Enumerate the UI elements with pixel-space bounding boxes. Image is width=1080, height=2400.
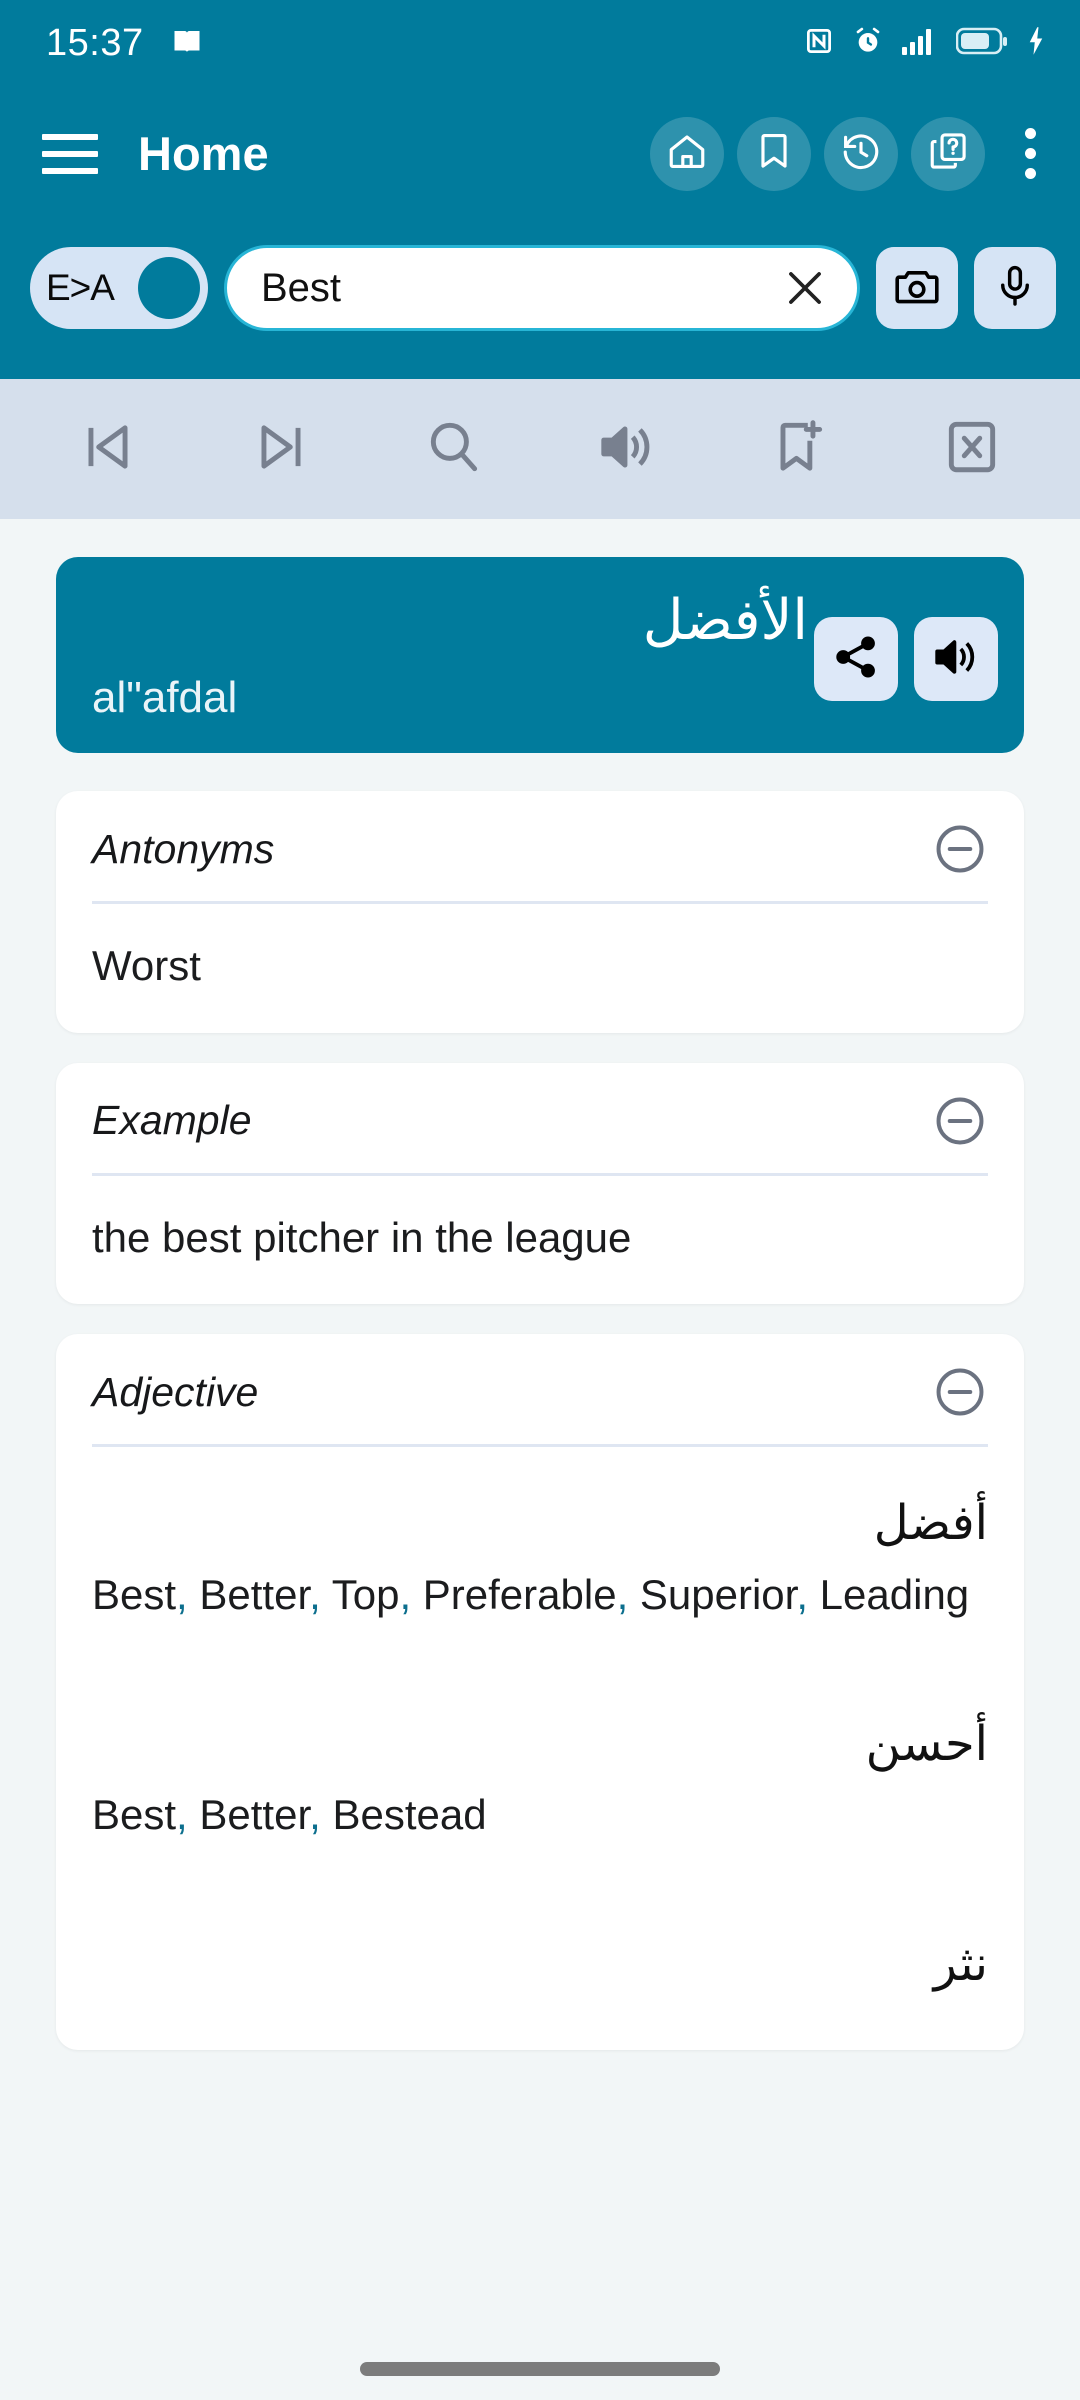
skip-previous-button[interactable] — [48, 394, 168, 504]
status-bar: 15:37 — [0, 0, 1080, 86]
camera-icon — [893, 262, 941, 315]
sense-english: Best, Better, Bestead — [92, 1786, 988, 1878]
minus-circle-icon[interactable] — [932, 1093, 988, 1149]
sense-arabic: أفضل — [92, 1447, 988, 1565]
close-box-icon — [941, 416, 1003, 483]
close-entry-button[interactable] — [912, 394, 1032, 504]
page-title: Home — [138, 126, 269, 181]
share-icon — [832, 633, 880, 686]
bookmark-button[interactable] — [737, 117, 811, 191]
alarm-icon — [852, 25, 884, 62]
speak-button[interactable] — [566, 394, 686, 504]
sense-item[interactable]: أفضل Best, Better, Top, Preferable, Supe… — [56, 1447, 1024, 1667]
card-title: Adjective — [92, 1369, 258, 1416]
speak-result-button[interactable] — [914, 617, 998, 701]
nfc-icon — [804, 26, 834, 61]
search-row: E>A — [0, 221, 1080, 379]
battery-icon — [956, 26, 1008, 61]
skip-next-icon — [250, 416, 312, 483]
sense-arabic: نثر — [92, 1888, 988, 2006]
home-button[interactable] — [650, 117, 724, 191]
minus-circle-icon[interactable] — [932, 1364, 988, 1420]
toggle-thumb — [138, 257, 200, 319]
hamburger-menu-icon[interactable] — [42, 134, 98, 174]
card-title: Antonyms — [92, 826, 274, 873]
sense-english — [92, 2006, 988, 2040]
minus-circle-icon[interactable] — [932, 821, 988, 877]
card-body: Worst — [56, 904, 1024, 1033]
example-card: Example the best pitcher in the league — [56, 1063, 1024, 1305]
home-icon — [666, 130, 708, 177]
status-bar-right — [804, 25, 1046, 62]
card-body: the best pitcher in the league — [56, 1176, 1024, 1305]
result-actions — [814, 617, 998, 701]
card-header: Adjective — [56, 1334, 1024, 1444]
microphone-icon — [992, 263, 1038, 314]
antonyms-text: Worst — [92, 938, 988, 995]
quiz-icon — [927, 130, 969, 177]
history-icon — [840, 130, 882, 177]
status-bar-clock: 15:37 — [46, 22, 144, 65]
close-icon[interactable] — [779, 262, 831, 314]
sense-english: Best, Better, Top, Preferable, Superior,… — [92, 1566, 988, 1658]
example-text: the best pitcher in the league — [92, 1210, 988, 1267]
history-button[interactable] — [824, 117, 898, 191]
card-title: Example — [92, 1097, 252, 1144]
sense-arabic: أحسن — [92, 1668, 988, 1786]
antonyms-card: Antonyms Worst — [56, 791, 1024, 1033]
quiz-button[interactable] — [911, 117, 985, 191]
language-direction-toggle[interactable]: E>A — [30, 247, 208, 329]
voice-search-button[interactable] — [974, 247, 1056, 329]
home-indicator — [360, 2362, 720, 2376]
sense-item[interactable]: نثر — [56, 1888, 1024, 2050]
search-in-entry-button[interactable] — [394, 394, 514, 504]
bookmark-icon — [753, 130, 795, 177]
more-vert-icon[interactable] — [1008, 117, 1052, 191]
adjective-card: Adjective أفضل Best, Better, Top, Prefer… — [56, 1334, 1024, 2050]
volume-up-icon — [595, 416, 657, 483]
app-bar: Home — [0, 86, 1080, 221]
app-bar-actions — [650, 117, 1052, 191]
signal-icon — [902, 26, 938, 61]
status-bar-left: 15:37 — [46, 22, 204, 65]
skip-previous-icon — [77, 416, 139, 483]
language-toggle-label: E>A — [46, 267, 114, 309]
search-icon — [423, 416, 485, 483]
app-screen: 15:37 — [0, 0, 1080, 2400]
search-field[interactable] — [224, 245, 860, 331]
card-header: Example — [56, 1063, 1024, 1173]
bookmark-add-icon — [768, 416, 830, 483]
volume-up-icon — [932, 633, 980, 686]
card-header: Antonyms — [56, 791, 1024, 901]
charging-bolt-icon — [1026, 26, 1046, 61]
skip-next-button[interactable] — [221, 394, 341, 504]
result-header-card: الأفضل al"afdal — [56, 557, 1024, 753]
share-button[interactable] — [814, 617, 898, 701]
navigation-toolbar — [0, 379, 1080, 519]
search-input[interactable] — [261, 266, 769, 311]
book-icon — [170, 26, 204, 61]
results-content: الأفضل al"afdal — [0, 519, 1080, 2050]
bookmark-add-button[interactable] — [739, 394, 859, 504]
sense-item[interactable]: أحسن Best, Better, Bestead — [56, 1668, 1024, 1888]
camera-search-button[interactable] — [876, 247, 958, 329]
